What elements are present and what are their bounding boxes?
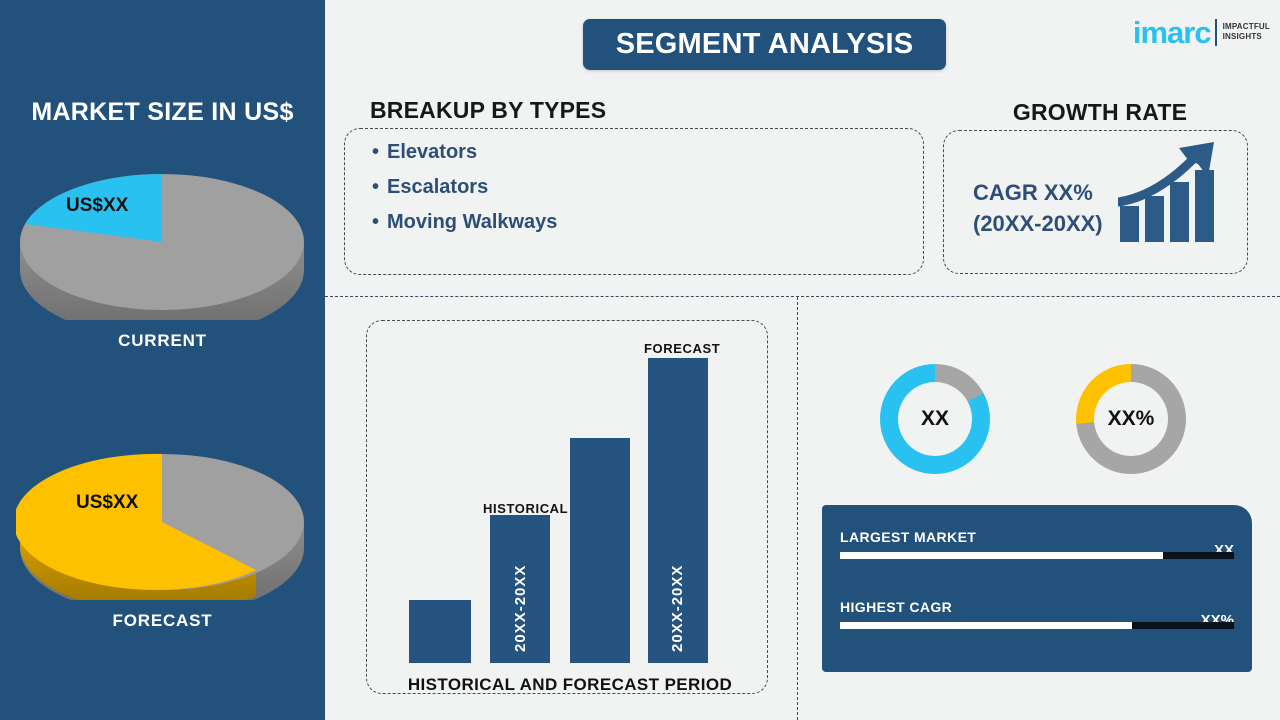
stat-label: LARGEST MARKET [840,529,976,545]
logo-divider [1215,19,1217,46]
bar-2-inline-label: 20XX-20XX [512,565,529,652]
cagr-line2: (20XX-20XX) [973,208,1103,239]
logo-wordmark: imarc [1133,17,1211,48]
forecast-pie-svg [16,440,309,600]
bar-4-top-label: FORECAST [644,341,720,356]
list-item: Elevators [372,138,557,167]
growth-heading: GROWTH RATE [940,99,1260,126]
page-title: SEGMENT ANALYSIS [583,19,946,70]
sidebar-title: MARKET SIZE IN US$ [0,98,325,127]
stat-progress-track [840,552,1234,559]
key-stats-panel: LARGEST MARKET XX HIGHEST CAGR XX% [822,505,1252,672]
imarc-logo: imarc IMPACTFUL INSIGHTS [1133,10,1270,54]
growth-arrow-chart-icon [1118,140,1228,245]
forecast-pie-chart: US$XX FORECAST [16,440,309,631]
horizontal-divider [325,296,1280,297]
chart-axis-label: HISTORICAL AND FORECAST PERIOD [340,675,800,695]
growth-donut: XX% [1076,364,1186,474]
breakup-types-list: Elevators Escalators Moving Walkways [372,138,557,242]
market-share-donut-center: XX [898,382,972,456]
forecast-pie-label: FORECAST [16,611,309,631]
bar-2-top-label: HISTORICAL [483,501,568,516]
cagr-text: CAGR XX% (20XX-20XX) [973,177,1103,239]
stat-progress-fill [840,622,1132,629]
bar-1 [409,600,471,663]
stat-row-highest-cagr: HIGHEST CAGR XX% [840,599,1234,629]
stat-label: HIGHEST CAGR [840,599,952,615]
bar-4-inline-label: 20XX-20XX [669,565,686,652]
infographic-root: MARKET SIZE IN US$ US$XX CURRENT [0,0,1280,720]
growth-donut-center: XX% [1094,382,1168,456]
market-share-donut-value: XX [921,407,949,431]
page-title-text: SEGMENT ANALYSIS [616,28,914,61]
header-bar: SEGMENT ANALYSIS imarc IMPACTFUL INSIGHT… [325,0,1280,90]
cagr-line1: CAGR XX% [973,177,1103,208]
current-pie-label: CURRENT [16,331,309,351]
logo-tagline-line1: IMPACTFUL [1223,22,1270,32]
current-pie-svg [16,160,309,320]
market-size-sidebar: MARKET SIZE IN US$ US$XX CURRENT [0,0,325,720]
bar-3 [570,438,630,663]
growth-donut-value: XX% [1108,407,1155,431]
logo-tagline-line2: INSIGHTS [1223,32,1270,42]
vertical-divider [797,297,798,720]
logo-tagline: IMPACTFUL INSIGHTS [1223,22,1270,42]
list-item: Escalators [372,173,557,202]
stat-row-largest-market: LARGEST MARKET XX [840,529,1234,559]
stat-progress-fill [840,552,1163,559]
current-pie-chart: US$XX CURRENT [16,160,309,351]
stat-progress-track [840,622,1234,629]
breakup-heading: BREAKUP BY TYPES [370,97,606,124]
market-share-donut: XX [880,364,990,474]
list-item: Moving Walkways [372,208,557,237]
